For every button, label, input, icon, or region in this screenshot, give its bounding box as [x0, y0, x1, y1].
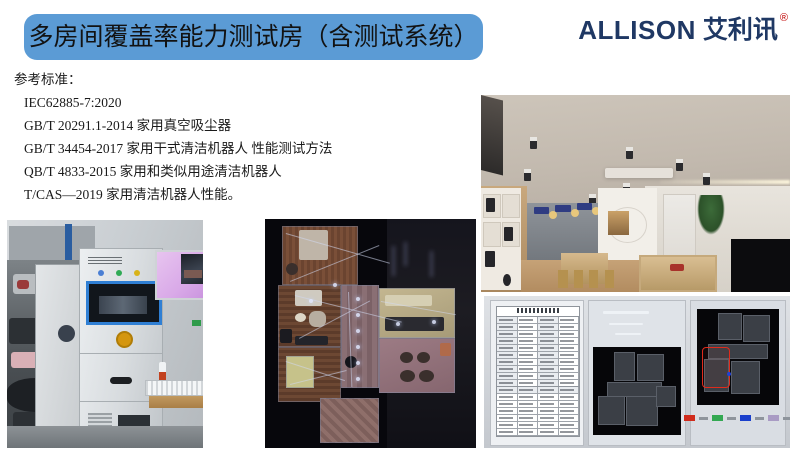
table-row [497, 387, 579, 394]
status-led-green-icon [116, 270, 122, 276]
tracking-marker [333, 283, 337, 287]
annotated-floorplan-image [697, 309, 779, 405]
tracking-marker [396, 322, 400, 326]
lab-cabinet-label [88, 257, 122, 265]
monitor-report-panel [490, 300, 584, 446]
ceiling-light-reflection [603, 311, 649, 314]
table-row [497, 345, 579, 352]
table-row [497, 338, 579, 345]
legend-swatch-obstacle [768, 415, 779, 421]
shelf-cell [483, 222, 501, 247]
table-row [497, 324, 579, 331]
legend-label-uncovered [699, 417, 708, 420]
uncovered-area-highlight [702, 347, 730, 387]
photo-overhead-floorplan [265, 219, 476, 448]
room-hanging-plant [697, 195, 725, 234]
table-row [497, 317, 579, 324]
table-row [497, 394, 579, 401]
tracking-marker [356, 345, 360, 349]
scan-corridor [607, 382, 662, 396]
floorplan-room-entry [320, 398, 379, 444]
shelf-cell [502, 194, 520, 219]
room-chair [605, 270, 614, 288]
coverage-result-table [496, 386, 580, 437]
scan-room [626, 396, 658, 426]
legend-label-repeat [755, 417, 764, 420]
lab-test-cabinet [79, 248, 163, 448]
brand-logo: ALLISON 艾利讯 ® [578, 16, 788, 44]
tracking-marker [432, 320, 436, 324]
floorplan-obstacle [280, 329, 293, 343]
tracking-marker [356, 377, 360, 381]
registered-trademark-icon: ® [780, 12, 788, 24]
exit-sign-icon [192, 320, 201, 326]
coverage-report-table [496, 306, 580, 395]
lab-cabinet-viewport [86, 281, 162, 325]
scan-room [731, 361, 759, 394]
shelf-product [485, 251, 495, 267]
ceiling-camera-icon [530, 140, 537, 149]
room-television [731, 239, 790, 292]
table-row [497, 415, 579, 422]
ceiling-camera-icon [524, 172, 531, 181]
reference-standard-item: T/CAS—2019 家用清洁机器人性能。 [14, 183, 414, 206]
floorplan-counter [385, 295, 431, 306]
floorplan-corridor [341, 285, 379, 388]
slide-root: 多房间覆盖率能力测试房（含测试系统） ALLISON 艾利讯 ® 参考标准： I… [0, 0, 800, 450]
tracking-marker [356, 297, 360, 301]
photo-control-monitors [484, 296, 790, 448]
room-cove-lighting [660, 180, 790, 184]
room-ceiling-beam [481, 95, 503, 175]
floorplan-obstacle [286, 263, 298, 275]
table-row [497, 408, 579, 415]
status-led-blue-icon [98, 270, 104, 276]
reference-standards-heading: 参考标准： [14, 70, 414, 89]
page-title: 多房间覆盖率能力测试房（含测试系统） [28, 25, 478, 50]
floorplan-chair [400, 352, 413, 363]
table-row [497, 373, 579, 380]
scan-room [718, 313, 741, 340]
page-title-chip: 多房间覆盖率能力测试房（含测试系统） [24, 14, 483, 60]
floorplan-obstacle [440, 343, 451, 357]
room-display-shelf [481, 188, 521, 290]
room-test-sandbox [639, 255, 717, 292]
floorplan-chair [417, 352, 430, 363]
floorplan-scan-image [593, 347, 681, 435]
lab-keyboard[interactable] [145, 380, 203, 396]
report-table-title [497, 307, 579, 317]
room-ceiling-light-panel [605, 168, 673, 178]
table-row [497, 401, 579, 408]
photo-lab-cabinet [7, 220, 203, 448]
shelf-product [503, 274, 511, 286]
reference-standard-item: IEC62885-7:2020 [14, 91, 414, 114]
ceiling-camera-icon [703, 176, 710, 185]
room-chair [574, 270, 583, 288]
table-row [497, 331, 579, 338]
ceiling-light-reflection [615, 333, 641, 335]
reference-standards-block: 参考标准： IEC62885-7:2020 GB/T 20291.1-2014 … [14, 70, 414, 206]
shelf-product [486, 198, 495, 212]
lab-monitor-camera-feed [181, 254, 203, 284]
reference-standard-item: QB/T 4833-2015 家用和类似用途清洁机器人 [14, 160, 414, 183]
monitor-annotated-panel [690, 300, 786, 446]
scan-room [598, 396, 625, 424]
kitchen-sign [577, 203, 592, 210]
scan-room [743, 315, 770, 342]
lab-drawer-handle[interactable] [110, 377, 132, 384]
ceiling-light-reflection [609, 323, 643, 325]
floorplan-light-streak [392, 246, 395, 276]
ceiling-camera-icon [626, 150, 633, 159]
floorplan-bed [299, 230, 329, 260]
floorplan-light-streak [404, 242, 407, 266]
pendant-lamp-icon [571, 209, 579, 217]
tracking-marker [356, 361, 360, 365]
legend-swatch-uncovered [684, 415, 695, 421]
ceiling-camera-icon [676, 162, 683, 171]
legend-swatch-covered [712, 415, 723, 421]
legend-swatch-repeat [740, 415, 751, 421]
emergency-stop-icon[interactable] [116, 331, 133, 348]
kitchen-sign [534, 207, 549, 214]
monitor-scan-panel [588, 300, 686, 446]
lab-cabinet-divider [80, 353, 162, 354]
table-row [497, 422, 579, 429]
table-row [497, 429, 579, 436]
tracking-marker [356, 313, 360, 317]
scan-room [614, 352, 635, 380]
coverage-legend [684, 415, 790, 421]
tracking-marker [356, 329, 360, 333]
lab-monitor-display [155, 250, 203, 300]
table-row [497, 359, 579, 366]
scan-room [656, 386, 676, 407]
lab-rack-item [17, 280, 29, 289]
floorplan-light-streak [430, 251, 433, 277]
scan-room [637, 354, 664, 381]
legend-label-obstacle [783, 417, 790, 420]
room-wall-art [608, 211, 630, 235]
kitchen-sign [555, 205, 570, 212]
reference-standard-item: GB/T 20291.1-2014 家用真空吸尘器 [14, 114, 414, 137]
logo-text-chinese: 艾利讯 [703, 16, 778, 44]
status-led-amber-icon [134, 270, 140, 276]
room-chair [558, 270, 567, 288]
reference-standard-item: GB/T 34454-2017 家用干式清洁机器人 性能测试方法 [14, 137, 414, 160]
table-row [497, 352, 579, 359]
lab-floor [7, 426, 203, 448]
floorplan-obstacle [295, 313, 306, 322]
robot-position-marker [727, 372, 731, 376]
shelf-product [504, 227, 513, 241]
logo-text-english: ALLISON [578, 16, 696, 44]
room-dining-table [561, 253, 607, 285]
photo-interior-room [481, 95, 790, 292]
table-row [497, 366, 579, 373]
legend-label-covered [727, 417, 736, 420]
room-chair [589, 270, 598, 288]
